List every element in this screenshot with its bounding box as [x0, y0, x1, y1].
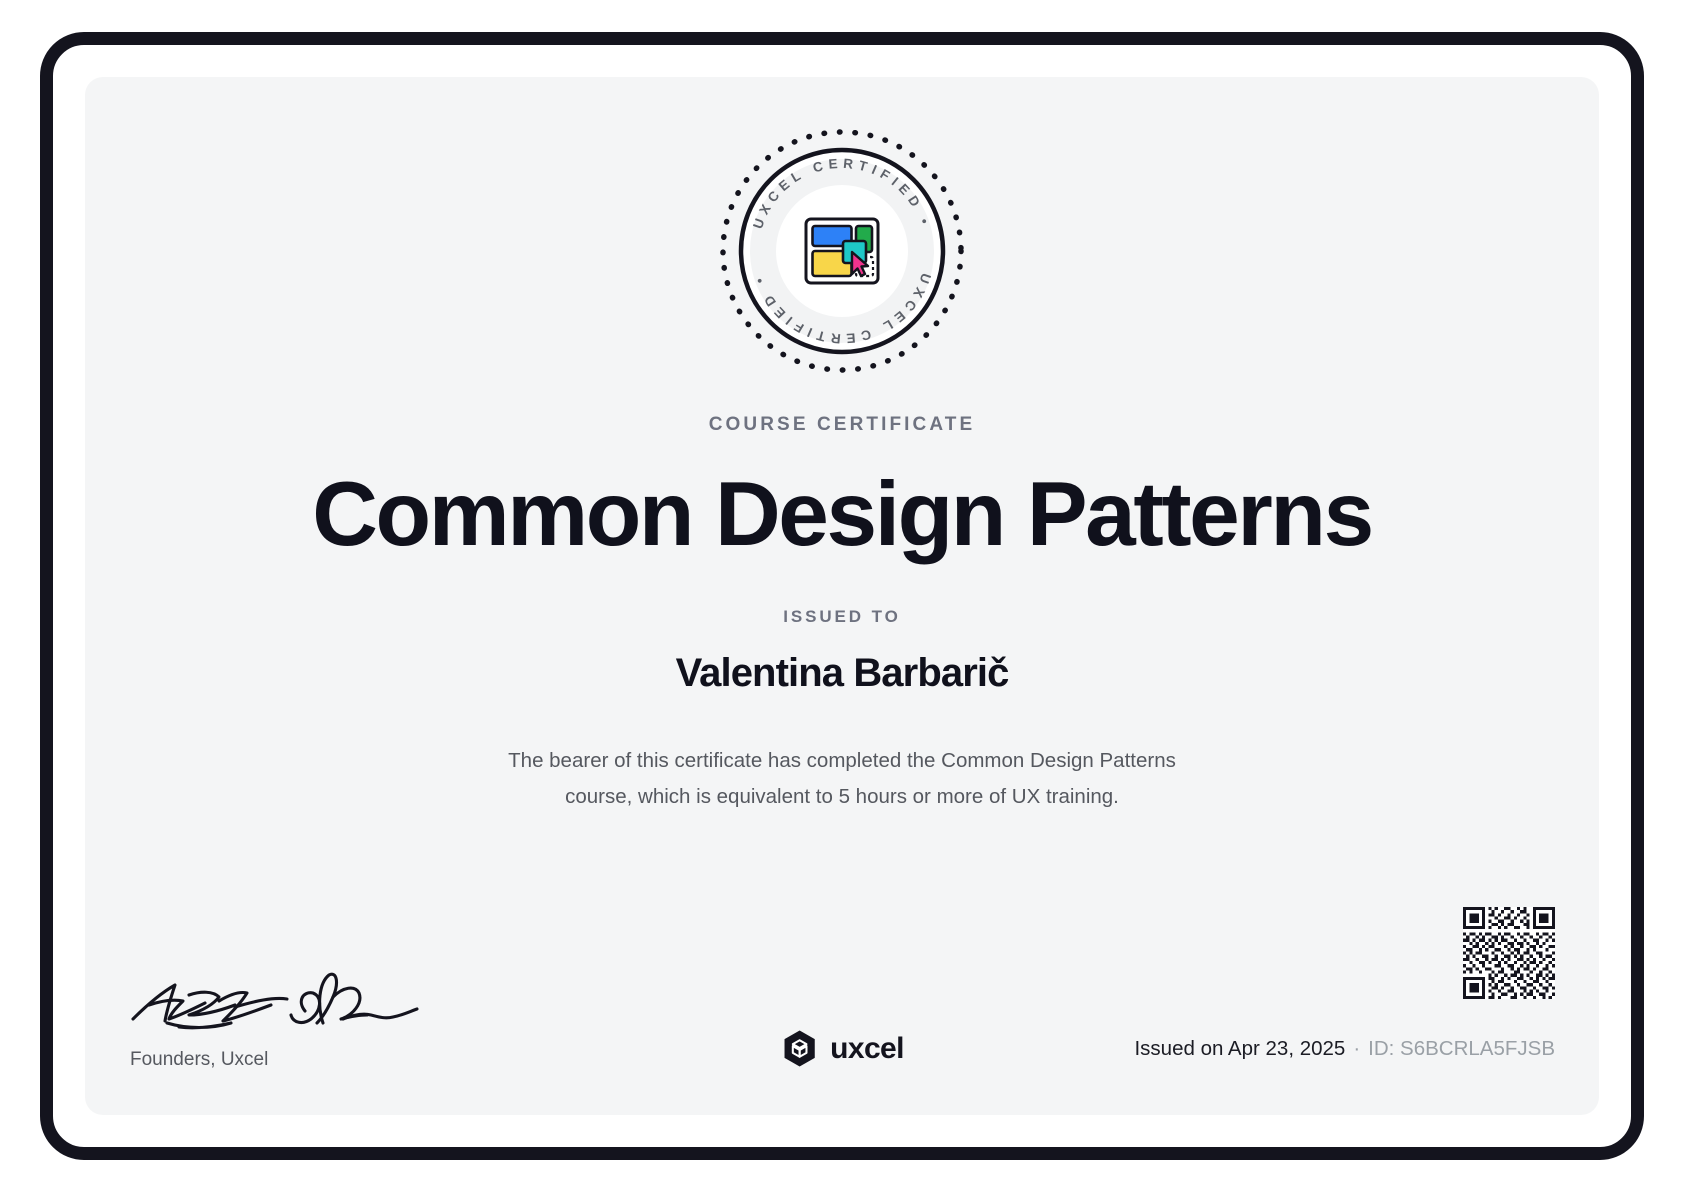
ui-layout-cursor-emblem — [806, 219, 878, 283]
certificate-frame: UXCEL CERTIFIED • UXCEL CERTIFIED • — [40, 32, 1644, 1160]
signature-block: Founders, Uxcel — [127, 957, 457, 1071]
recipient-name: Valentina Barbarič — [676, 651, 1009, 696]
qr-code[interactable] — [1463, 907, 1555, 999]
certificate-description: The bearer of this certificate has compl… — [447, 743, 1237, 816]
seal-svg: UXCEL CERTIFIED • UXCEL CERTIFIED • — [715, 124, 969, 378]
uxcel-brand: uxcel — [780, 1029, 904, 1068]
certificate-id: ID: S6BCRLA5FJSB — [1368, 1037, 1555, 1060]
page-title: Common Design Patterns — [312, 467, 1372, 563]
description-line-1: The bearer of this certificate has compl… — [447, 743, 1237, 779]
issue-metadata: Issued on Apr 23, 2025·ID: S6BCRLA5FJSB — [1134, 1037, 1555, 1061]
uxcel-wordmark: uxcel — [830, 1032, 904, 1066]
issued-on-text: Issued on Apr 23, 2025 — [1134, 1037, 1345, 1060]
signature-caption: Founders, Uxcel — [130, 1049, 457, 1071]
certification-seal: UXCEL CERTIFIED • UXCEL CERTIFIED • — [715, 124, 969, 378]
uxcel-logo-icon — [780, 1029, 819, 1068]
description-line-2: course, which is equivalent to 5 hours o… — [447, 779, 1237, 815]
issued-to-label: ISSUED TO — [783, 607, 900, 627]
certificate-footer: Founders, Uxcel uxcel — [85, 921, 1599, 1071]
kicker-label: COURSE CERTIFICATE — [709, 414, 976, 436]
metadata-separator: · — [1353, 1037, 1360, 1060]
certificate-panel: UXCEL CERTIFIED • UXCEL CERTIFIED • — [85, 77, 1599, 1115]
signature-icon — [127, 957, 422, 1035]
